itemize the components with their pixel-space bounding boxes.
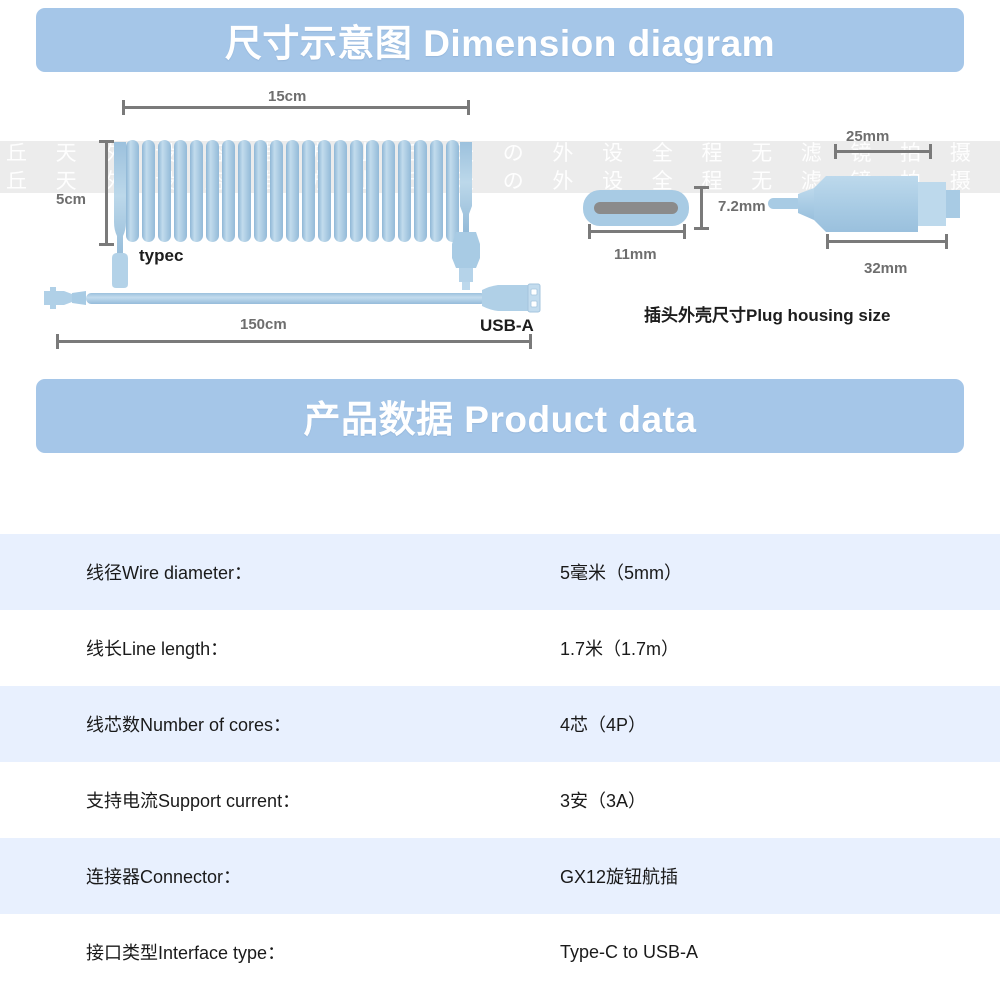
row-label: 线芯数Number of cores： [86,711,291,737]
row-label: 支持电流Support current： [86,787,300,813]
banner-product-title: 产品数据 Product data [304,389,697,443]
dim-label-cable-length: 150cm [240,316,287,333]
plug-housing-caption: 插头外壳尺寸Plug housing size [644,301,891,326]
row-label: 接口类型Interface type： [86,939,285,965]
dim-label-typec-height: 7.2mm [718,198,766,215]
dim-line-coil-width [122,106,470,109]
table-row: 线芯数Number of cores： 4芯（4P） [0,686,1000,762]
dim-label-typec-width: 11mm [614,246,657,263]
row-value: 5毫米（5mm） [560,559,682,585]
product-spec-page: 丘 天 外 设 盗 難 防 止 丘 天 の 外 设 全 程 无 滤 镜 拍 摄 … [0,0,1000,1000]
banner-dimension-title: 尺寸示意图 Dimension diagram [225,13,775,67]
table-row: 线径Wire diameter： 5毫米（5mm） [0,534,1000,610]
dim-line-gx12-length [826,240,948,243]
table-row: 接口类型Interface type： Type-C to USB-A [0,914,1000,990]
dimension-diagram-area: 15cm 5cm [0,78,1000,363]
dim-line-typec-height [700,186,703,230]
row-value: 3安（3A） [560,787,646,813]
gx12-housing-graphic [768,170,968,240]
row-value: GX12旋钮航插 [560,863,678,889]
dim-line-typec-width [588,230,686,233]
dim-label-gx12-length: 32mm [864,260,907,277]
table-row: 线长Line length： 1.7米（1.7m） [0,610,1000,686]
dim-line-cable-length [56,340,532,343]
dim-label-coil-width: 15cm [268,88,306,105]
row-value: 4芯（4P） [560,711,646,737]
dim-line-gx12-top [834,150,932,153]
product-data-table: 线径Wire diameter： 5毫米（5mm） 线长Line length：… [0,534,1000,990]
banner-dimension-diagram: 尺寸示意图 Dimension diagram [36,8,964,72]
row-label: 线长Line length： [86,635,228,661]
straight-cable-graphic [42,278,542,328]
dim-line-coil-height [105,140,108,246]
banner-product-data: 产品数据 Product data [36,379,964,453]
typec-housing-graphic [580,184,700,234]
dim-label-coil-height: 5cm [56,191,86,208]
row-label: 连接器Connector： [86,863,241,889]
table-row: 支持电流Support current： 3安（3A） [0,762,1000,838]
row-value: 1.7米（1.7m） [560,635,679,661]
table-row: 连接器Connector： GX12旋钮航插 [0,838,1000,914]
row-value: Type-C to USB-A [560,942,698,963]
label-usba-connector: USB-A [480,316,534,336]
label-typec-connector: typec [139,246,183,266]
dim-label-gx12-top: 25mm [846,128,889,145]
row-label: 线径Wire diameter： [86,559,252,585]
